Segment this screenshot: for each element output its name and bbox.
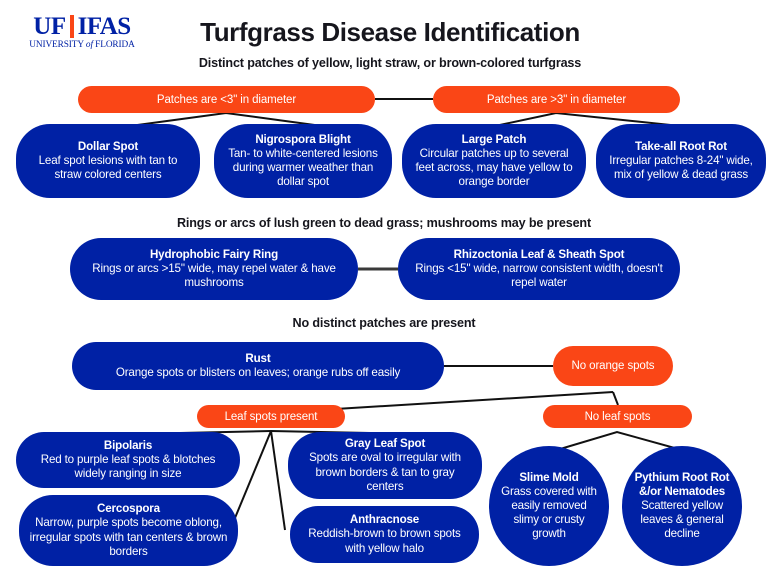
disease-cercospora-title: Cercospora <box>27 502 230 516</box>
disease-dollar-spot[interactable]: Dollar Spot Leaf spot lesions with tan t… <box>16 124 200 198</box>
logo-subtitle-florida: FLORIDA <box>95 40 135 50</box>
logo-ifas-text: IFAS <box>78 14 131 39</box>
disease-gray-leaf-spot-desc: Spots are oval to irregular with brown b… <box>296 451 474 493</box>
branch-no-leaf-spots-label: No leaf spots <box>551 411 684 423</box>
disease-pythium-root-rot-nematodes-desc: Scattered yellow leaves & general declin… <box>632 499 732 541</box>
section-heading-rings-arcs: Rings or arcs of lush green to dead gras… <box>134 216 634 231</box>
branch-leaf-spots-present-label: Leaf spots present <box>205 411 337 423</box>
branch-patches-large[interactable]: Patches are >3" in diameter <box>433 86 680 113</box>
branch-no-leaf-spots[interactable]: No leaf spots <box>543 405 692 428</box>
disease-bipolaris-desc: Red to purple leaf spots & blotches wide… <box>24 453 232 481</box>
disease-gray-leaf-spot[interactable]: Gray Leaf Spot Spots are oval to irregul… <box>288 432 482 499</box>
disease-pythium-root-rot-nematodes[interactable]: Pythium Root Rot &/or Nematodes Scattere… <box>622 446 742 566</box>
disease-rust-desc: Orange spots or blisters on leaves; oran… <box>80 366 436 380</box>
disease-bipolaris[interactable]: Bipolaris Red to purple leaf spots & blo… <box>16 432 240 488</box>
disease-cercospora[interactable]: Cercospora Narrow, purple spots become o… <box>19 495 238 566</box>
disease-rhizoctonia-leaf-sheath-spot[interactable]: Rhizoctonia Leaf & Sheath Spot Rings <15… <box>398 238 680 300</box>
disease-dollar-spot-desc: Leaf spot lesions with tan to straw colo… <box>24 154 192 182</box>
logo-subtitle-of: of <box>86 40 93 50</box>
disease-gray-leaf-spot-title: Gray Leaf Spot <box>296 437 474 451</box>
branch-patches-small[interactable]: Patches are <3" in diameter <box>78 86 375 113</box>
disease-rhizoctonia-leaf-sheath-spot-title: Rhizoctonia Leaf & Sheath Spot <box>406 248 672 262</box>
disease-nigrospora-blight-title: Nigrospora Blight <box>222 133 384 147</box>
disease-rhizoctonia-leaf-sheath-spot-desc: Rings <15" wide, narrow consistent width… <box>406 262 672 290</box>
disease-cercospora-desc: Narrow, purple spots become oblong, irre… <box>27 516 230 558</box>
logo-divider-bar <box>70 15 74 38</box>
section-heading-distinct-patches: Distinct patches of yellow, light straw,… <box>150 56 630 71</box>
section-heading-no-distinct-patches: No distinct patches are present <box>234 316 534 331</box>
disease-slime-mold-title: Slime Mold <box>501 471 597 485</box>
disease-large-patch-title: Large Patch <box>410 133 578 147</box>
disease-nigrospora-blight[interactable]: Nigrospora Blight Tan- to white-centered… <box>214 124 392 198</box>
uf-ifas-logo: UF IFAS UNIVERSITY of FLORIDA <box>24 14 140 54</box>
disease-hydrophobic-fairy-ring-title: Hydrophobic Fairy Ring <box>78 248 350 262</box>
logo-subtitle-university: UNIVERSITY <box>29 40 83 50</box>
disease-large-patch-desc: Circular patches up to several feet acro… <box>410 147 578 189</box>
disease-dollar-spot-title: Dollar Spot <box>24 140 192 154</box>
logo-uf-text: UF <box>33 14 65 39</box>
disease-slime-mold-desc: Grass covered with easily removed slimy … <box>501 485 597 542</box>
branch-no-orange-spots-label: No orange spots <box>561 360 665 372</box>
disease-anthracnose-desc: Reddish-brown to brown spots with yellow… <box>298 527 471 555</box>
disease-large-patch[interactable]: Large Patch Circular patches up to sever… <box>402 124 586 198</box>
logo-wordmark: UF IFAS <box>24 14 140 39</box>
disease-bipolaris-title: Bipolaris <box>24 439 232 453</box>
connector-leafspots-to-anthracnose <box>271 431 285 530</box>
disease-take-all-root-rot-title: Take-all Root Rot <box>604 140 758 154</box>
disease-rust[interactable]: Rust Orange spots or blisters on leaves;… <box>72 342 444 390</box>
disease-hydrophobic-fairy-ring-desc: Rings or arcs >15" wide, may repel water… <box>78 262 350 290</box>
branch-no-orange-spots[interactable]: No orange spots <box>553 346 673 386</box>
disease-rust-title: Rust <box>80 352 436 366</box>
branch-patches-large-label: Patches are >3" in diameter <box>441 94 672 106</box>
disease-pythium-root-rot-nematodes-title: Pythium Root Rot &/or Nematodes <box>632 471 732 499</box>
page-title: Turfgrass Disease Identification <box>150 18 630 47</box>
diagram-canvas: UF IFAS UNIVERSITY of FLORIDA Turfgrass … <box>0 0 768 576</box>
disease-take-all-root-rot[interactable]: Take-all Root Rot Irregular patches 8-24… <box>596 124 766 198</box>
disease-nigrospora-blight-desc: Tan- to white-centered lesions during wa… <box>222 147 384 189</box>
disease-anthracnose[interactable]: Anthracnose Reddish-brown to brown spots… <box>290 506 479 563</box>
disease-slime-mold[interactable]: Slime Mold Grass covered with easily rem… <box>489 446 609 566</box>
logo-subtitle: UNIVERSITY of FLORIDA <box>24 40 140 50</box>
branch-leaf-spots-present[interactable]: Leaf spots present <box>197 405 345 428</box>
disease-anthracnose-title: Anthracnose <box>298 513 471 527</box>
disease-hydrophobic-fairy-ring[interactable]: Hydrophobic Fairy Ring Rings or arcs >15… <box>70 238 358 300</box>
connector-no-orange-to-no-leaf <box>613 392 618 405</box>
branch-patches-small-label: Patches are <3" in diameter <box>86 94 367 106</box>
disease-take-all-root-rot-desc: Irregular patches 8-24" wide, mix of yel… <box>604 154 758 182</box>
